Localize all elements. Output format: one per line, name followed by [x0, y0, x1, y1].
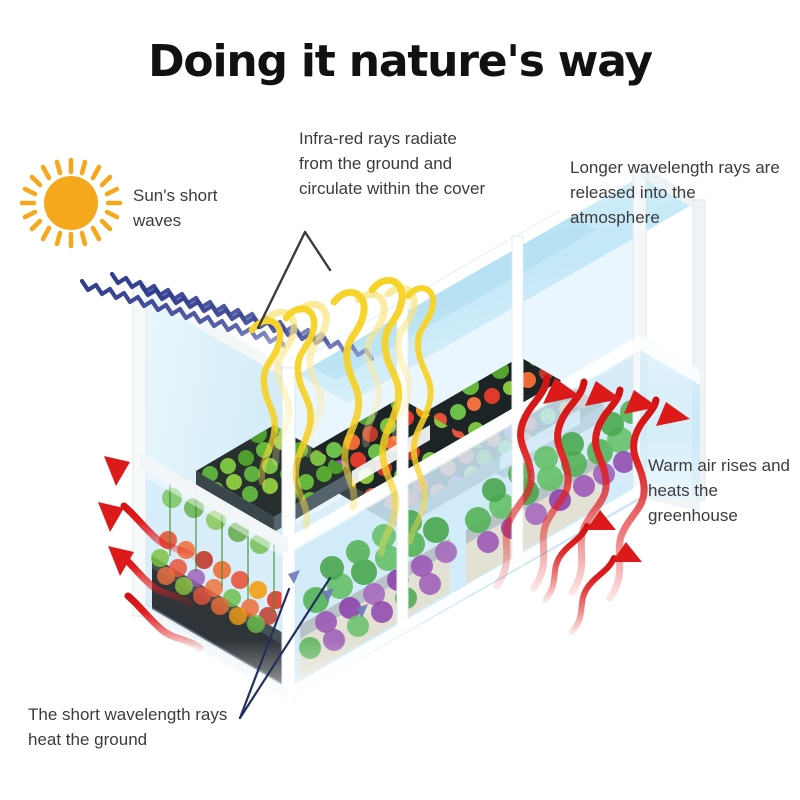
callout-warm-air-rises: Warm air rises and heats the greenhouse	[648, 453, 798, 528]
callout-infrared-rays: Infra-red rays radiate from the ground a…	[299, 126, 489, 201]
callout-short-wavelength-ground: The short wavelength rays heat the groun…	[28, 702, 258, 752]
heat-escape-arrowheads	[98, 456, 134, 576]
callout-sun-short-waves: Sun's short waves	[133, 183, 263, 233]
infographic-canvas: Doing it nature's way	[0, 0, 800, 800]
sun-icon	[22, 160, 120, 246]
callout-longer-wavelength: Longer wavelength rays are released into…	[570, 155, 785, 230]
greenhouse-isometric-illustration	[0, 0, 800, 800]
